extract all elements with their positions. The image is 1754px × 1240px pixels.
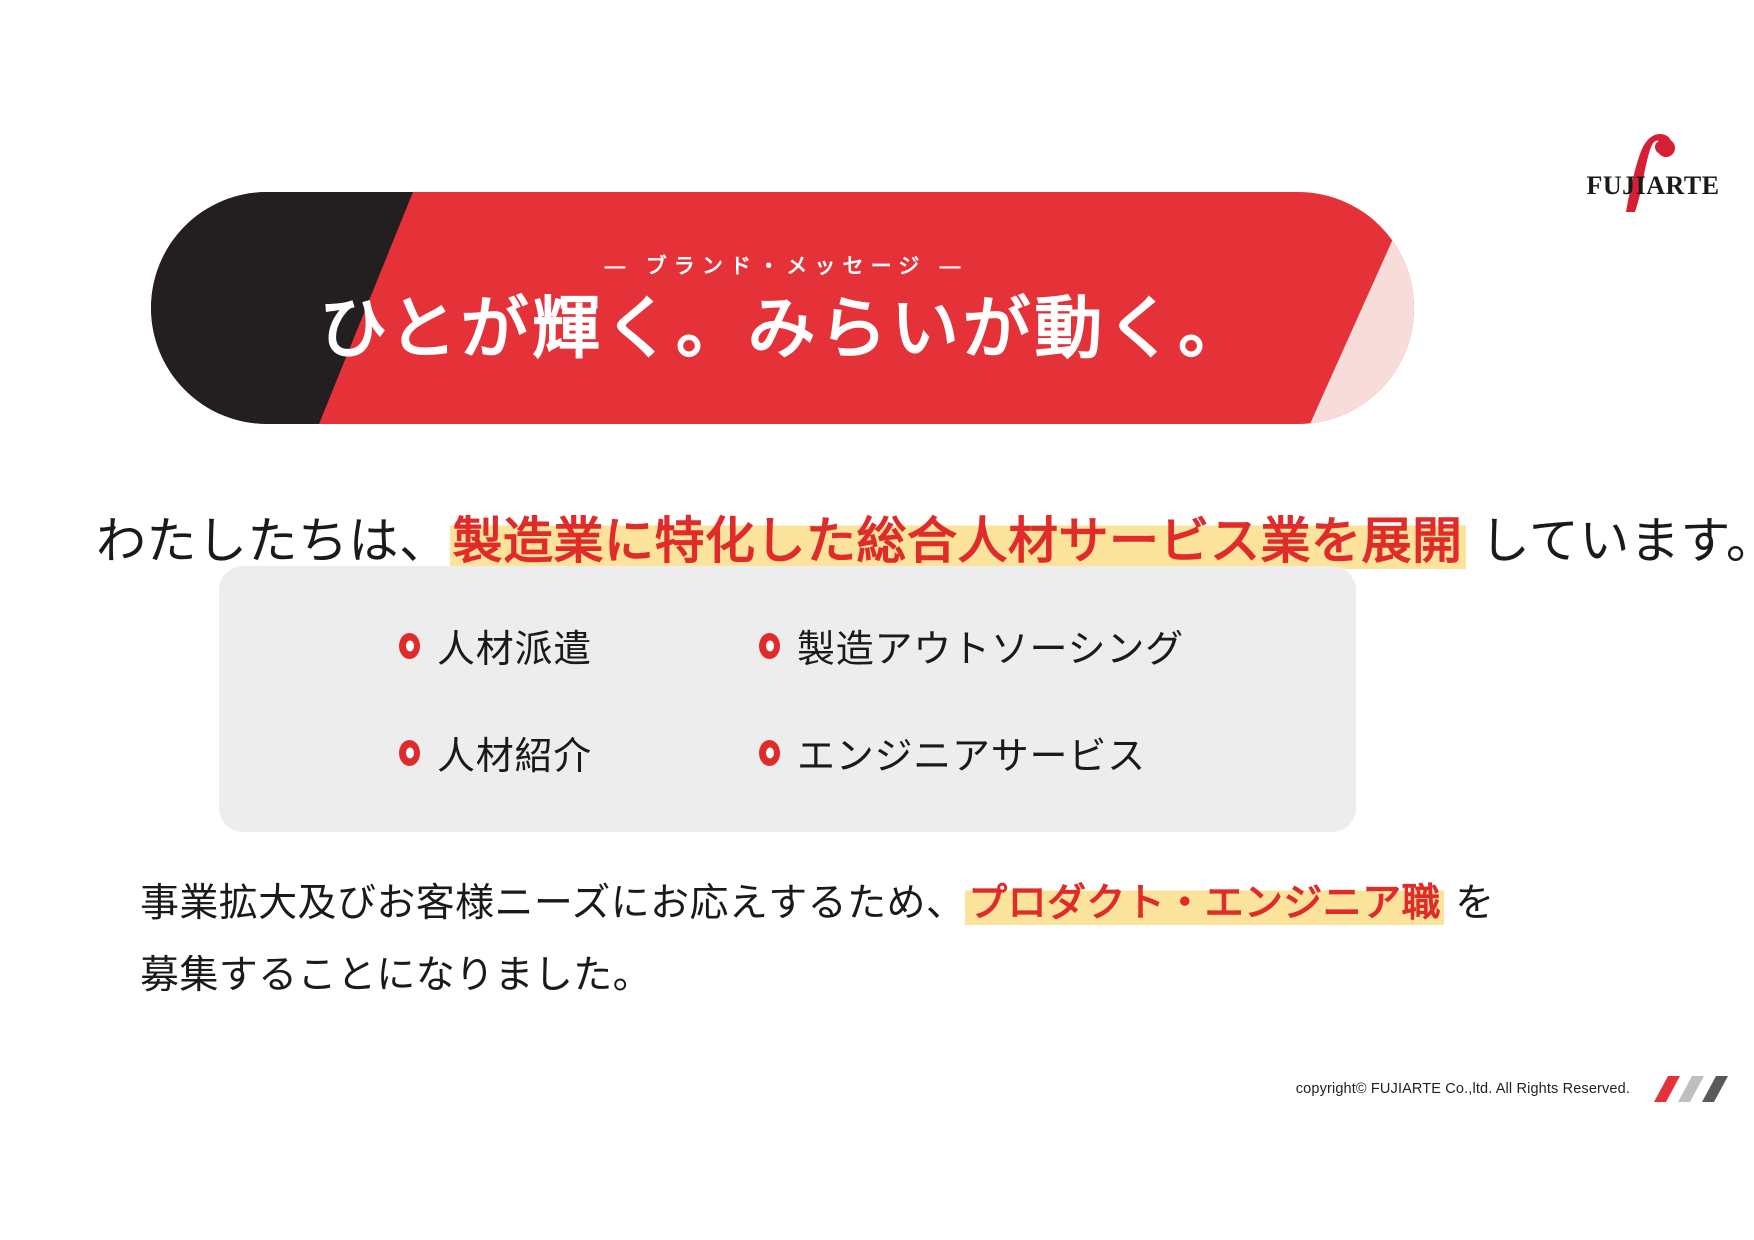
closing-paragraph: 事業拡大及びお客様ニーズにお応えするため、プロダクト・エンジニア職 を 募集する…	[140, 868, 1620, 1012]
lead-before: わたしたちは、	[96, 513, 450, 569]
service-label: 製造アウトソーシング	[797, 618, 1184, 673]
copyright-text: copyright© FUJIARTE Co.,ltd. All Rights …	[1296, 1081, 1630, 1097]
fujiarte-logo: FUJIARTE	[1578, 128, 1728, 212]
service-label: エンジニアサービス	[797, 725, 1146, 780]
footer: copyright© FUJIARTE Co.,ltd. All Rights …	[1296, 1076, 1730, 1102]
bullet-ring-icon	[759, 633, 780, 659]
slide-canvas: FUJIARTE — ブランド・メッセージ — ひとが輝く。みらいが動く。 わた…	[0, 0, 1754, 1240]
lead-highlight: 製造業に特化した総合人材サービス業を展開	[450, 513, 1466, 569]
bullet-ring-icon	[399, 740, 420, 766]
lead-after: しています。	[1466, 513, 1754, 569]
service-label: 人材派遣	[437, 618, 592, 673]
closing-after: を	[1444, 882, 1495, 925]
service-label: 人材紹介	[437, 725, 592, 780]
services-panel: 人材派遣 製造アウトソーシング 人材紹介 エンジニアサービス	[219, 566, 1356, 832]
services-grid: 人材派遣 製造アウトソーシング 人材紹介 エンジニアサービス	[219, 566, 1356, 832]
bullet-ring-icon	[759, 740, 780, 766]
closing-highlight: プロダクト・エンジニア職	[965, 882, 1444, 925]
closing-before: 事業拡大及びお客様ニーズにお応えするため、	[140, 882, 965, 925]
service-item-engineer-service: エンジニアサービス	[759, 725, 1356, 780]
brand-message-banner: — ブランド・メッセージ — ひとが輝く。みらいが動く。	[151, 192, 1414, 424]
bullet-ring-icon	[399, 633, 420, 659]
lead-sentence: わたしたちは、製造業に特化した総合人材サービス業を展開 しています。	[96, 512, 1696, 571]
closing-line2: 募集することになりました。	[140, 940, 1620, 1012]
service-item-jinzai-haken: 人材派遣	[399, 618, 759, 673]
logo-wordmark: FUJIARTE	[1586, 171, 1719, 200]
service-item-jinzai-shokai: 人材紹介	[399, 725, 759, 780]
service-item-seizo-outsourcing: 製造アウトソーシング	[759, 618, 1356, 673]
slash-marks-icon	[1644, 1076, 1730, 1102]
